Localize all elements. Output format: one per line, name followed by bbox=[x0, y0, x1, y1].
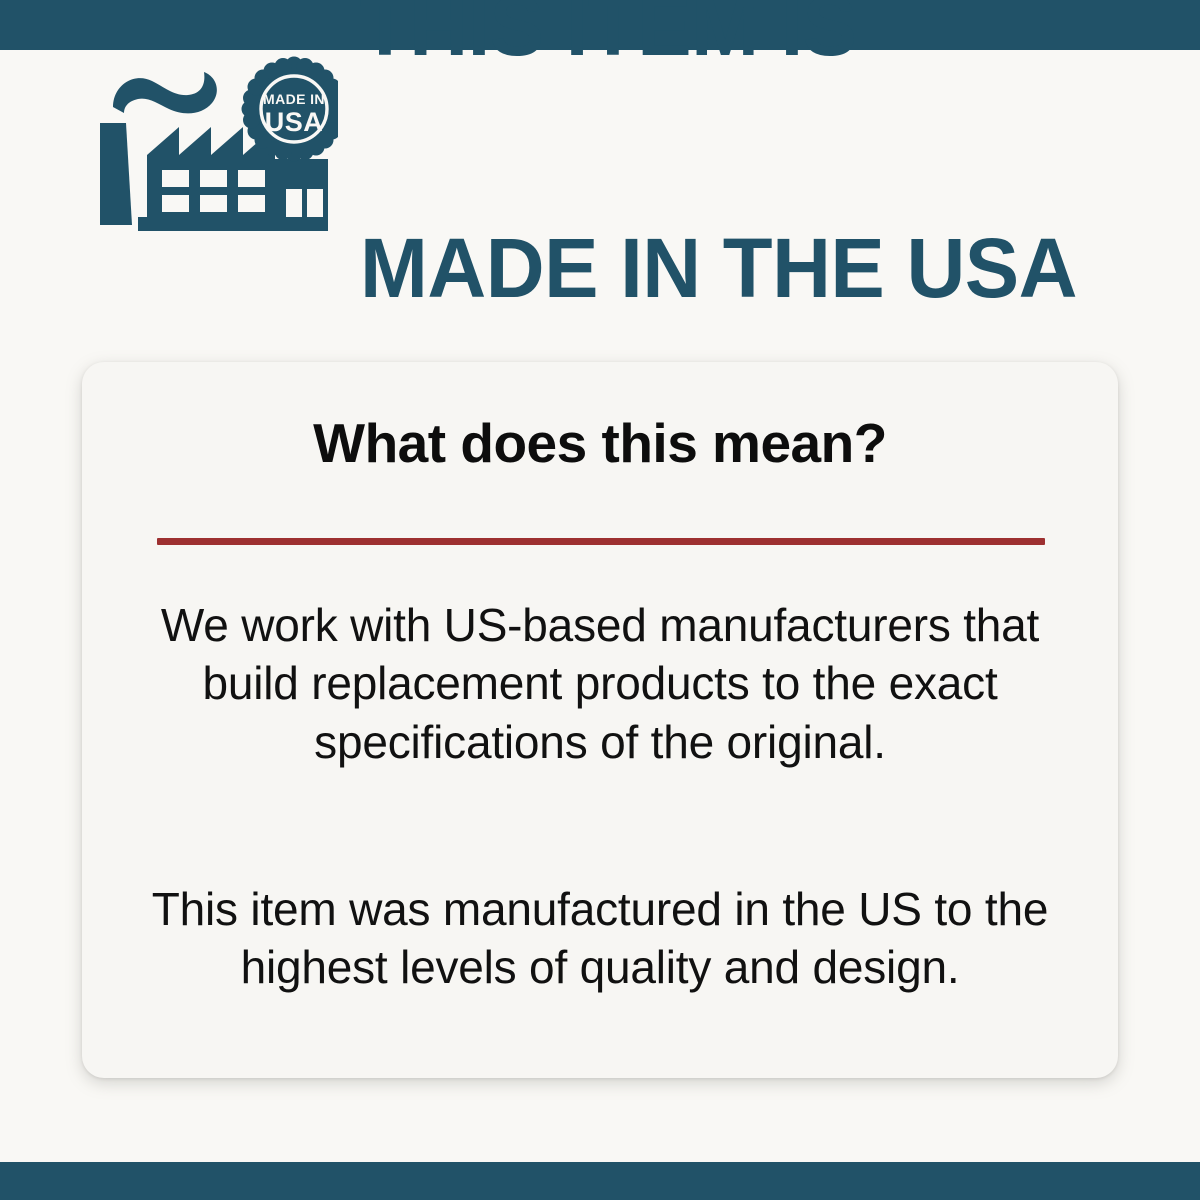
brand-logo: MADE IN USA bbox=[100, 55, 338, 240]
smokestack-icon bbox=[100, 123, 132, 225]
card-title: What does this mean? bbox=[82, 416, 1118, 471]
card-paragraph-1: We work with US-based manufacturers that… bbox=[140, 596, 1060, 771]
badge-made-in-text: MADE IN bbox=[263, 91, 325, 107]
card-paragraph-2: This item was manufactured in the US to … bbox=[140, 880, 1060, 997]
red-divider bbox=[157, 538, 1045, 545]
headline-line-1: THIS ITEM IS bbox=[360, 0, 1077, 67]
headline-line-2: MADE IN THE USA bbox=[360, 228, 1077, 309]
header: MADE IN USA THIS ITEM IS MADE IN THE USA bbox=[100, 55, 1160, 240]
bottom-brand-band bbox=[0, 1162, 1200, 1200]
smoke-plume-icon bbox=[113, 72, 217, 113]
info-card: What does this mean? We work with US-bas… bbox=[82, 362, 1118, 1078]
badge-usa-text: USA bbox=[265, 107, 324, 137]
